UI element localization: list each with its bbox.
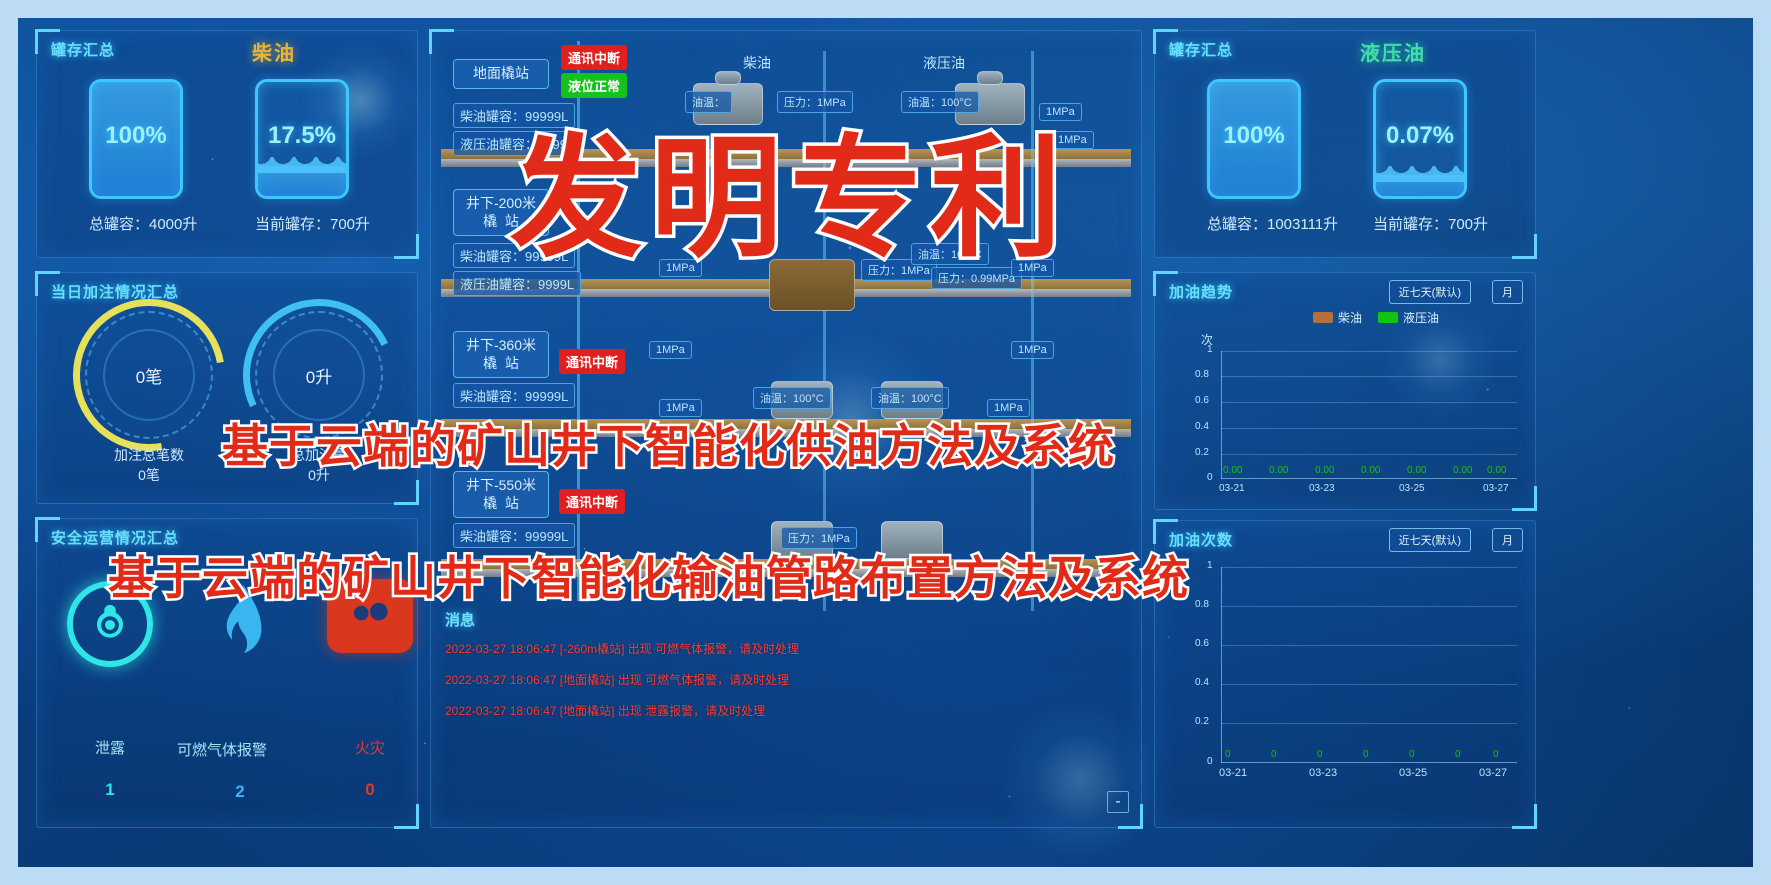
panel-heading-diesel: 柴油 — [252, 37, 296, 66]
chart-gridline — [1221, 567, 1517, 568]
readout-oil-temp: 油温：100°C — [871, 387, 949, 409]
safety-item-fire: 火灾 0 — [327, 579, 413, 800]
tank-current-stock: 17.5% 当前罐存：700升 — [255, 79, 370, 234]
chart-point-label: 0.00 — [1361, 465, 1380, 476]
legend-swatch — [1378, 312, 1398, 323]
tank-current-stock: 0.07% 当前罐存：700升 — [1373, 79, 1488, 234]
tank-percent: 100% — [1210, 122, 1298, 150]
safety-item-leak: 泄露 1 — [67, 581, 153, 800]
chart-point-label: 0 — [1317, 749, 1323, 760]
chart-y-tick: 0 — [1207, 756, 1213, 767]
legend-swatch — [1313, 312, 1333, 323]
chart-y-axis — [1221, 351, 1222, 479]
status-tag-comm-interrupt: 通讯中断 — [561, 45, 627, 70]
readout-value: 100°C — [911, 393, 942, 405]
station-label-surface[interactable]: 地面橇站 — [453, 59, 549, 89]
panel-refuel-trend-chart: 加油趋势 近七天(默认) 月 柴油 液压油 次 1 0.8 0.6 0 — [1154, 272, 1536, 510]
chart-plot-area: 1 0.8 0.6 0.4 0.2 0 0 0 0 0 0 0 0 03-21 … — [1221, 567, 1517, 763]
panel-heading-hydraulic: 液压油 — [1360, 37, 1426, 66]
chart-y-tick: 0.6 — [1195, 395, 1209, 406]
chart-gridline — [1221, 454, 1517, 455]
chart-point-label: 0 — [1455, 749, 1461, 760]
legend-item-hydraulic[interactable]: 液压油 — [1378, 309, 1439, 326]
tank-graphic: 100% — [1207, 79, 1301, 199]
tank-percent: 0.07% — [1376, 122, 1464, 150]
panel-title: 加油趋势 — [1169, 281, 1233, 302]
tank-fill — [258, 166, 346, 196]
chart-point-label: 0.00 — [1315, 465, 1334, 476]
tank-graphic: 17.5% — [255, 79, 349, 199]
panel-title: 罐存汇总 — [51, 39, 115, 60]
panel-tank-summary-hydraulic: 罐存汇总 液压油 100% 总罐容：1003111升 0.07% 当前罐存：70… — [1154, 30, 1536, 258]
chart-plot-area: 1 0.8 0.6 0.4 0.2 0 0.00 0.00 0.00 0.00 … — [1221, 351, 1517, 479]
chart-y-tick: 0 — [1207, 472, 1213, 483]
chart-y-tick: 0.8 — [1195, 369, 1209, 380]
legend-item-diesel[interactable]: 柴油 — [1313, 309, 1362, 326]
station-label-minus360[interactable]: 井下-360米 橇 站 — [453, 331, 549, 378]
column-header-hydraulic: 液压油 — [923, 53, 965, 73]
chart-point-label: 0.00 — [1407, 465, 1426, 476]
tank-graphic: 100% — [89, 79, 183, 199]
safety-label-fire: 火灾 — [327, 737, 413, 758]
range-button-seven-days[interactable]: 近七天(默认) — [1389, 280, 1471, 304]
chart-legend: 柴油 液压油 — [1313, 309, 1439, 326]
chart-y-tick: 0.4 — [1195, 677, 1209, 688]
chart-gridline — [1221, 684, 1517, 685]
message-log-title: 消息 — [445, 609, 1137, 630]
chart-point-label: 0 — [1363, 749, 1369, 760]
watermark-title-line-1: 基于云端的矿山井下智能化供油方法及系统 — [222, 410, 1115, 476]
panel-title: 罐存汇总 — [1169, 39, 1233, 60]
safety-item-gas-alarm: 可燃气体报警 2 — [197, 577, 283, 802]
chart-gridline — [1221, 645, 1517, 646]
station-label-minus550[interactable]: 井下-550米 橇 站 — [453, 471, 549, 518]
pressure-chip: 1MPa — [1011, 341, 1054, 359]
readout-value: 100°C — [793, 393, 824, 405]
safety-label-leak: 泄露 — [67, 737, 153, 758]
chart-point-label: 0.00 — [1223, 465, 1242, 476]
safety-label-gas-alarm: 可燃气体报警 — [177, 739, 263, 760]
chart-y-tick: 0.2 — [1195, 716, 1209, 727]
chart-x-tick: 03-21 — [1219, 483, 1245, 494]
watermark-patent-badge: 发明专利 — [510, 92, 1070, 283]
chart-gridline — [1221, 351, 1517, 352]
gauge-label-refuel-count: 加注总笔数 — [69, 445, 229, 465]
tank-caption: 当前罐存：700升 — [255, 213, 370, 234]
chart-y-tick: 0.6 — [1195, 638, 1209, 649]
chart-point-label: 0.00 — [1487, 465, 1506, 476]
message-log-line: 2022-03-27 18:06:47 [地面橇站] 出现 可燃气体报警，请及时… — [445, 671, 1137, 688]
readout-oil-temp: 油温：100°C — [753, 387, 831, 409]
chart-point-label: 0 — [1409, 749, 1415, 760]
status-tag-comm-interrupt: 通讯中断 — [559, 489, 625, 514]
tank-caption: 当前罐存：700升 — [1373, 213, 1488, 234]
chart-x-axis — [1221, 762, 1517, 763]
zoom-out-button[interactable]: - — [1107, 791, 1129, 813]
chart-x-tick: 03-27 — [1483, 483, 1509, 494]
tank-total-capacity: 100% 总罐容：1003111升 — [1207, 79, 1338, 234]
tank-fill — [1376, 175, 1464, 196]
chart-y-tick: 1 — [1207, 560, 1213, 571]
chart-gridline — [1221, 402, 1517, 403]
chart-gridline — [1221, 428, 1517, 429]
readout-label: 油温： — [760, 393, 793, 405]
range-button-seven-days[interactable]: 近七天(默认) — [1389, 528, 1471, 552]
chart-point-label: 0 — [1271, 749, 1277, 760]
status-tag-comm-interrupt: 通讯中断 — [559, 349, 625, 374]
dashboard-root: 罐存汇总 柴油 100% 总罐容：4000升 17.5% 当前罐存：700升 当… — [0, 0, 1771, 885]
gauge-refuel-count: 0笔 — [85, 311, 213, 439]
tank-wave — [1373, 166, 1467, 182]
panel-refuel-count-chart: 加油次数 近七天(默认) 月 1 0.8 0.6 0.4 0.2 0 0 0 0… — [1154, 520, 1536, 828]
chart-x-tick: 03-25 — [1399, 483, 1425, 494]
chart-y-tick: 0.2 — [1195, 447, 1209, 458]
message-log: 消息 2022-03-27 18:06:47 [-260m橇站] 出现 可燃气体… — [437, 609, 1137, 819]
chart-x-axis — [1221, 478, 1517, 479]
chart-x-tick: 03-23 — [1309, 483, 1335, 494]
chart-x-tick: 03-23 — [1309, 767, 1337, 779]
range-button-month[interactable]: 月 — [1492, 280, 1523, 304]
tank-wave — [255, 157, 349, 173]
range-button-month[interactable]: 月 — [1492, 528, 1523, 552]
safety-value-leak: 1 — [67, 780, 153, 800]
chart-y-tick: 1 — [1207, 344, 1213, 355]
chart-y-tick: 0.8 — [1195, 599, 1209, 610]
chart-point-label: 0 — [1493, 749, 1499, 760]
chart-gridline — [1221, 376, 1517, 377]
safety-value-gas-alarm: 2 — [197, 782, 283, 802]
legend-label: 柴油 — [1338, 309, 1362, 326]
chart-gridline — [1221, 606, 1517, 607]
column-header-diesel: 柴油 — [743, 53, 771, 73]
chart-x-tick: 03-27 — [1479, 767, 1507, 779]
tank-percent: 100% — [92, 122, 180, 150]
message-log-line: 2022-03-27 18:06:47 [-260m橇站] 出现 可燃气体报警，… — [445, 640, 1137, 657]
chart-x-tick: 03-25 — [1399, 767, 1427, 779]
gauge-value: 0笔 — [85, 311, 213, 439]
legend-label: 液压油 — [1403, 309, 1439, 326]
chart-x-tick: 03-21 — [1219, 767, 1247, 779]
tank-cap-diesel-surface — [715, 71, 741, 85]
watermark-title-line-2: 基于云端的矿山井下智能化输油管路布置方法及系统 — [108, 542, 1189, 608]
message-log-line: 2022-03-27 18:06:47 [地面橇站] 出现 泄露报警，请及时处理 — [445, 702, 1137, 719]
chart-point-label: 0 — [1225, 749, 1231, 760]
gauge-sub-refuel-count: 0笔 — [69, 465, 229, 485]
tank-percent: 17.5% — [258, 122, 346, 150]
chart-gridline — [1221, 723, 1517, 724]
pressure-chip: 1MPa — [649, 341, 692, 359]
tank-caption: 总罐容：4000升 — [89, 213, 197, 234]
chart-y-tick: 0.4 — [1195, 421, 1209, 432]
station-row-diesel-capacity: 柴油罐容：99999L — [453, 383, 575, 408]
readout-label: 油温： — [878, 393, 911, 405]
tank-caption: 总罐容：1003111升 — [1207, 213, 1338, 234]
chart-point-label: 0.00 — [1453, 465, 1472, 476]
chart-y-axis — [1221, 567, 1222, 763]
panel-tank-summary-diesel: 罐存汇总 柴油 100% 总罐容：4000升 17.5% 当前罐存：700升 — [36, 30, 418, 258]
tank-cap-hydraulic-surface — [977, 71, 1003, 85]
safety-value-fire: 0 — [327, 780, 413, 800]
chart-point-label: 0.00 — [1269, 465, 1288, 476]
tank-total-capacity: 100% 总罐容：4000升 — [89, 79, 197, 234]
tank-graphic: 0.07% — [1373, 79, 1467, 199]
